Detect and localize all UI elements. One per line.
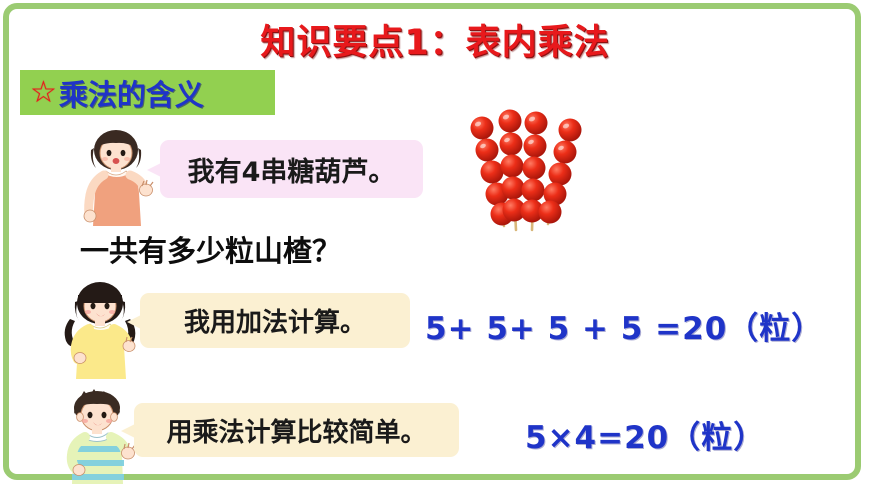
section-banner: ☆ 乘法的含义: [20, 70, 275, 115]
star-icon: ☆: [30, 78, 57, 108]
speech-bubble-1-text: 我有4串糖葫芦。: [188, 150, 396, 189]
addition-equation: 5+ 5+ 5 + 5 =20（粒）: [425, 303, 823, 348]
slide-canvas: 知识要点1：表内乘法 ☆ 乘法的含义: [0, 0, 870, 489]
speech-bubble-1: 我有4串糖葫芦。: [160, 140, 423, 198]
speech-bubble-2: 我用加法计算。: [140, 293, 410, 348]
tanghulu-illustration: [448, 104, 598, 234]
speech-bubble-2-text: 我用加法计算。: [184, 302, 366, 339]
speech-bubble-3: 用乘法计算比较简单。: [134, 403, 459, 457]
character-girl-yellow-dress: [56, 279, 144, 379]
character-girl-orange-dress: [74, 128, 160, 228]
question-text: 一共有多少粒山楂？: [80, 228, 341, 270]
bubble-tail: [127, 315, 141, 329]
section-banner-label: 乘法的含义: [59, 72, 204, 114]
bubble-tail: [121, 424, 135, 438]
page-title: 知识要点1：表内乘法: [0, 14, 870, 65]
speech-bubble-3-text: 用乘法计算比较简单。: [166, 412, 426, 449]
bubble-tail: [147, 163, 161, 177]
multiplication-equation: 5×4=20（粒）: [525, 412, 765, 457]
